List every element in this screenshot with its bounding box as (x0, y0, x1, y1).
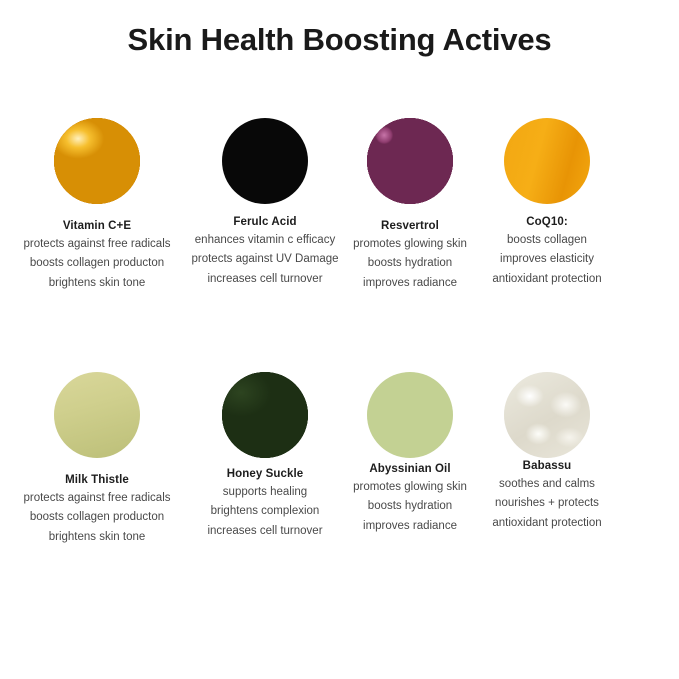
benefit-item: antioxidant protection (462, 514, 632, 534)
ingredient-row-2: Milk Thistle protects against free radic… (0, 372, 679, 622)
ingredient-caption: CoQ10: boosts collagen improves elastici… (462, 214, 632, 290)
white-powder-on-black-image (222, 118, 308, 204)
benefit-item: brightens skin tone (12, 274, 182, 294)
amber-gel-capsules-image (54, 118, 140, 204)
benefit-item: improves elasticity (462, 250, 632, 270)
golden-oil-bubbles-image (504, 118, 590, 204)
benefit-list: protects against free radicals boosts co… (12, 489, 182, 548)
page-title: Skin Health Boosting Actives (0, 22, 679, 58)
ingredient-name: Milk Thistle (12, 472, 182, 489)
benefit-item: soothes and calms (462, 475, 632, 495)
ingredient-card-babassu[interactable]: Babassu soothes and calms nourishes + pr… (462, 372, 632, 534)
benefit-list: soothes and calms nourishes + protects a… (462, 475, 632, 534)
ingredient-caption: Babassu soothes and calms nourishes + pr… (462, 458, 632, 534)
benefit-item: brightens skin tone (12, 528, 182, 548)
cream-powder-image (504, 372, 590, 458)
benefit-item: boosts collagen producton (12, 254, 182, 274)
ingredient-card-coq10[interactable]: CoQ10: boosts collagen improves elastici… (462, 118, 632, 290)
green-oil-droplet-image (367, 372, 453, 458)
benefit-item: protects against free radicals (12, 489, 182, 509)
benefit-item: antioxidant protection (462, 270, 632, 290)
ingredient-card-milk-thistle[interactable]: Milk Thistle protects against free radic… (12, 372, 182, 548)
benefit-item: boosts collagen producton (12, 508, 182, 528)
ingredient-name: CoQ10: (462, 214, 632, 231)
ingredient-card-vitamin-c-e[interactable]: Vitamin C+E protects against free radica… (12, 118, 182, 294)
ingredient-name: Vitamin C+E (12, 218, 182, 235)
honeysuckle-flowers-image (222, 372, 308, 458)
benefit-item: nourishes + protects (462, 494, 632, 514)
benefit-list: protects against free radicals boosts co… (12, 235, 182, 294)
ingredient-row-1: Vitamin C+E protects against free radica… (0, 118, 679, 368)
ingredient-caption: Vitamin C+E protects against free radica… (12, 218, 182, 294)
benefit-list: boosts collagen improves elasticity anti… (462, 231, 632, 290)
ingredient-name: Babassu (462, 458, 632, 475)
infographic-canvas: Skin Health Boosting Actives Vitamin C+E… (0, 0, 679, 679)
benefit-item: protects against free radicals (12, 235, 182, 255)
milk-thistle-flowers-image (54, 372, 140, 458)
benefit-item: boosts collagen (462, 231, 632, 251)
ingredient-caption: Milk Thistle protects against free radic… (12, 472, 182, 548)
purple-grapes-image (367, 118, 453, 204)
